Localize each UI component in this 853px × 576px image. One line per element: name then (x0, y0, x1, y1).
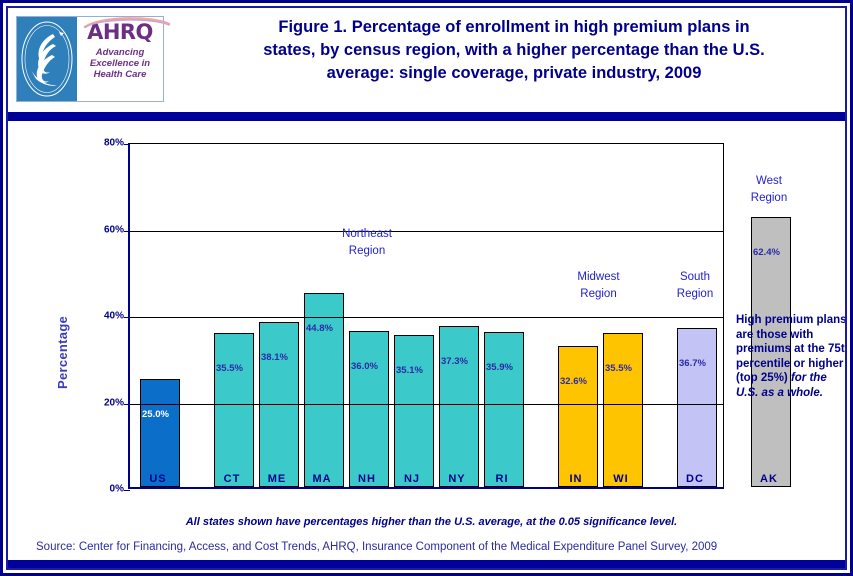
x-tick-label-ma: MA (312, 473, 331, 485)
bar-chart: Percentage 0%20%40%60%80% 25.0%35.5%38.1… (8, 121, 847, 521)
ahrq-tagline: Advancing Excellence in Health Care (90, 47, 150, 80)
region-label-line2: Region (751, 190, 787, 207)
x-tick-label-wi: WI (613, 473, 628, 485)
ahrq-arc-icon (83, 15, 171, 29)
x-tick-label-dc: DC (686, 473, 704, 485)
bar-wi: 35.5% (603, 333, 643, 487)
header-divider (8, 112, 845, 121)
y-axis-ticks: 0%20%40%60%80% (68, 121, 124, 521)
figure-page-inner: AHRQ Advancing Excellence in Health Care… (6, 6, 847, 570)
region-label-line1: South (677, 269, 713, 286)
region-label-south: SouthRegion (677, 269, 713, 303)
hhs-eagle-seal-icon (17, 17, 77, 101)
bar-value-label: 38.1% (261, 352, 298, 363)
bar-in: 32.6% (558, 346, 598, 487)
region-label-line1: Midwest (577, 269, 619, 286)
gridline (130, 404, 723, 405)
region-label-line1: West (751, 173, 787, 190)
bar-dc: 36.7% (677, 328, 717, 487)
bar-me: 38.1% (259, 322, 299, 487)
bar-series: 25.0%35.5%38.1%44.8%36.0%35.1%37.3%35.9%… (130, 144, 723, 487)
ahrq-tagline-line2: Excellence in (90, 58, 150, 69)
ahrq-logo: AHRQ Advancing Excellence in Health Care (16, 16, 164, 102)
bar-nj: 35.1% (394, 335, 434, 487)
figure-header: AHRQ Advancing Excellence in Health Care… (8, 8, 845, 109)
x-tick-label-ct: CT (224, 473, 241, 485)
region-label-west: WestRegion (751, 173, 787, 207)
bar-ny: 37.3% (439, 326, 479, 487)
figure-title: Figure 1. Percentage of enrollment in hi… (178, 16, 847, 85)
x-tick-label-ak: AK (760, 473, 778, 485)
bar-nh: 36.0% (349, 331, 389, 487)
bar-value-label: 37.3% (441, 356, 478, 367)
region-label-northeast: NortheastRegion (342, 226, 392, 260)
ahrq-wordmark: AHRQ Advancing Excellence in Health Care (77, 17, 163, 101)
bar-value-label: 35.5% (216, 363, 253, 374)
x-tick-label-ri: RI (496, 473, 509, 485)
y-tick-label: 20% (104, 397, 124, 408)
significance-footnote: All states shown have percentages higher… (8, 516, 847, 528)
figure-title-line2: states, by census region, with a higher … (178, 39, 847, 62)
ahrq-tagline-line3: Health Care (90, 69, 150, 80)
region-label-line1: Northeast (342, 226, 392, 243)
y-tick-label: 0% (110, 484, 124, 495)
source-line: Source: Center for Financing, Access, an… (36, 541, 836, 553)
bar-value-label: 32.6% (560, 376, 597, 387)
x-tick-label-in: IN (570, 473, 583, 485)
side-note: High premium plans are those with premiu… (736, 313, 847, 400)
bar-value-label: 25.0% (142, 409, 179, 420)
x-tick-label-ny: NY (448, 473, 465, 485)
gridline (130, 231, 723, 232)
figure-title-line3: average: single coverage, private indust… (178, 62, 847, 85)
gridline (130, 317, 723, 318)
figure-page: AHRQ Advancing Excellence in Health Care… (0, 0, 853, 576)
figure-title-line1: Figure 1. Percentage of enrollment in hi… (178, 16, 847, 39)
bar-value-label: 36.0% (351, 361, 388, 372)
y-tick-mark (124, 144, 130, 145)
ahrq-tagline-line1: Advancing (90, 47, 150, 58)
bar-value-label: 35.5% (605, 363, 642, 374)
y-tick-label: 40% (104, 311, 124, 322)
bar-ct: 35.5% (214, 333, 254, 487)
region-label-midwest: MidwestRegion (577, 269, 619, 303)
bar-value-label: 62.4% (753, 247, 790, 258)
bar-us: 25.0% (140, 379, 180, 487)
footer-divider (8, 560, 845, 568)
y-tick-label: 80% (104, 138, 124, 149)
region-label-line2: Region (342, 243, 392, 260)
region-label-line2: Region (677, 286, 713, 303)
plot-area: 25.0%35.5%38.1%44.8%36.0%35.1%37.3%35.9%… (128, 143, 724, 489)
x-tick-label-me: ME (268, 473, 287, 485)
x-tick-label-nj: NJ (404, 473, 420, 485)
ahrq-acronym: AHRQ (87, 22, 153, 43)
bar-value-label: 36.7% (679, 358, 716, 369)
y-tick-label: 60% (104, 224, 124, 235)
bar-ri: 35.9% (484, 332, 524, 487)
bar-ma: 44.8% (304, 293, 344, 487)
bar-value-label: 44.8% (306, 323, 343, 334)
x-tick-label-us: US (149, 473, 166, 485)
x-tick-label-nh: NH (358, 473, 376, 485)
region-label-line2: Region (577, 286, 619, 303)
bar-value-label: 35.9% (486, 362, 523, 373)
y-tick-mark (124, 490, 130, 491)
bar-value-label: 35.1% (396, 365, 433, 376)
